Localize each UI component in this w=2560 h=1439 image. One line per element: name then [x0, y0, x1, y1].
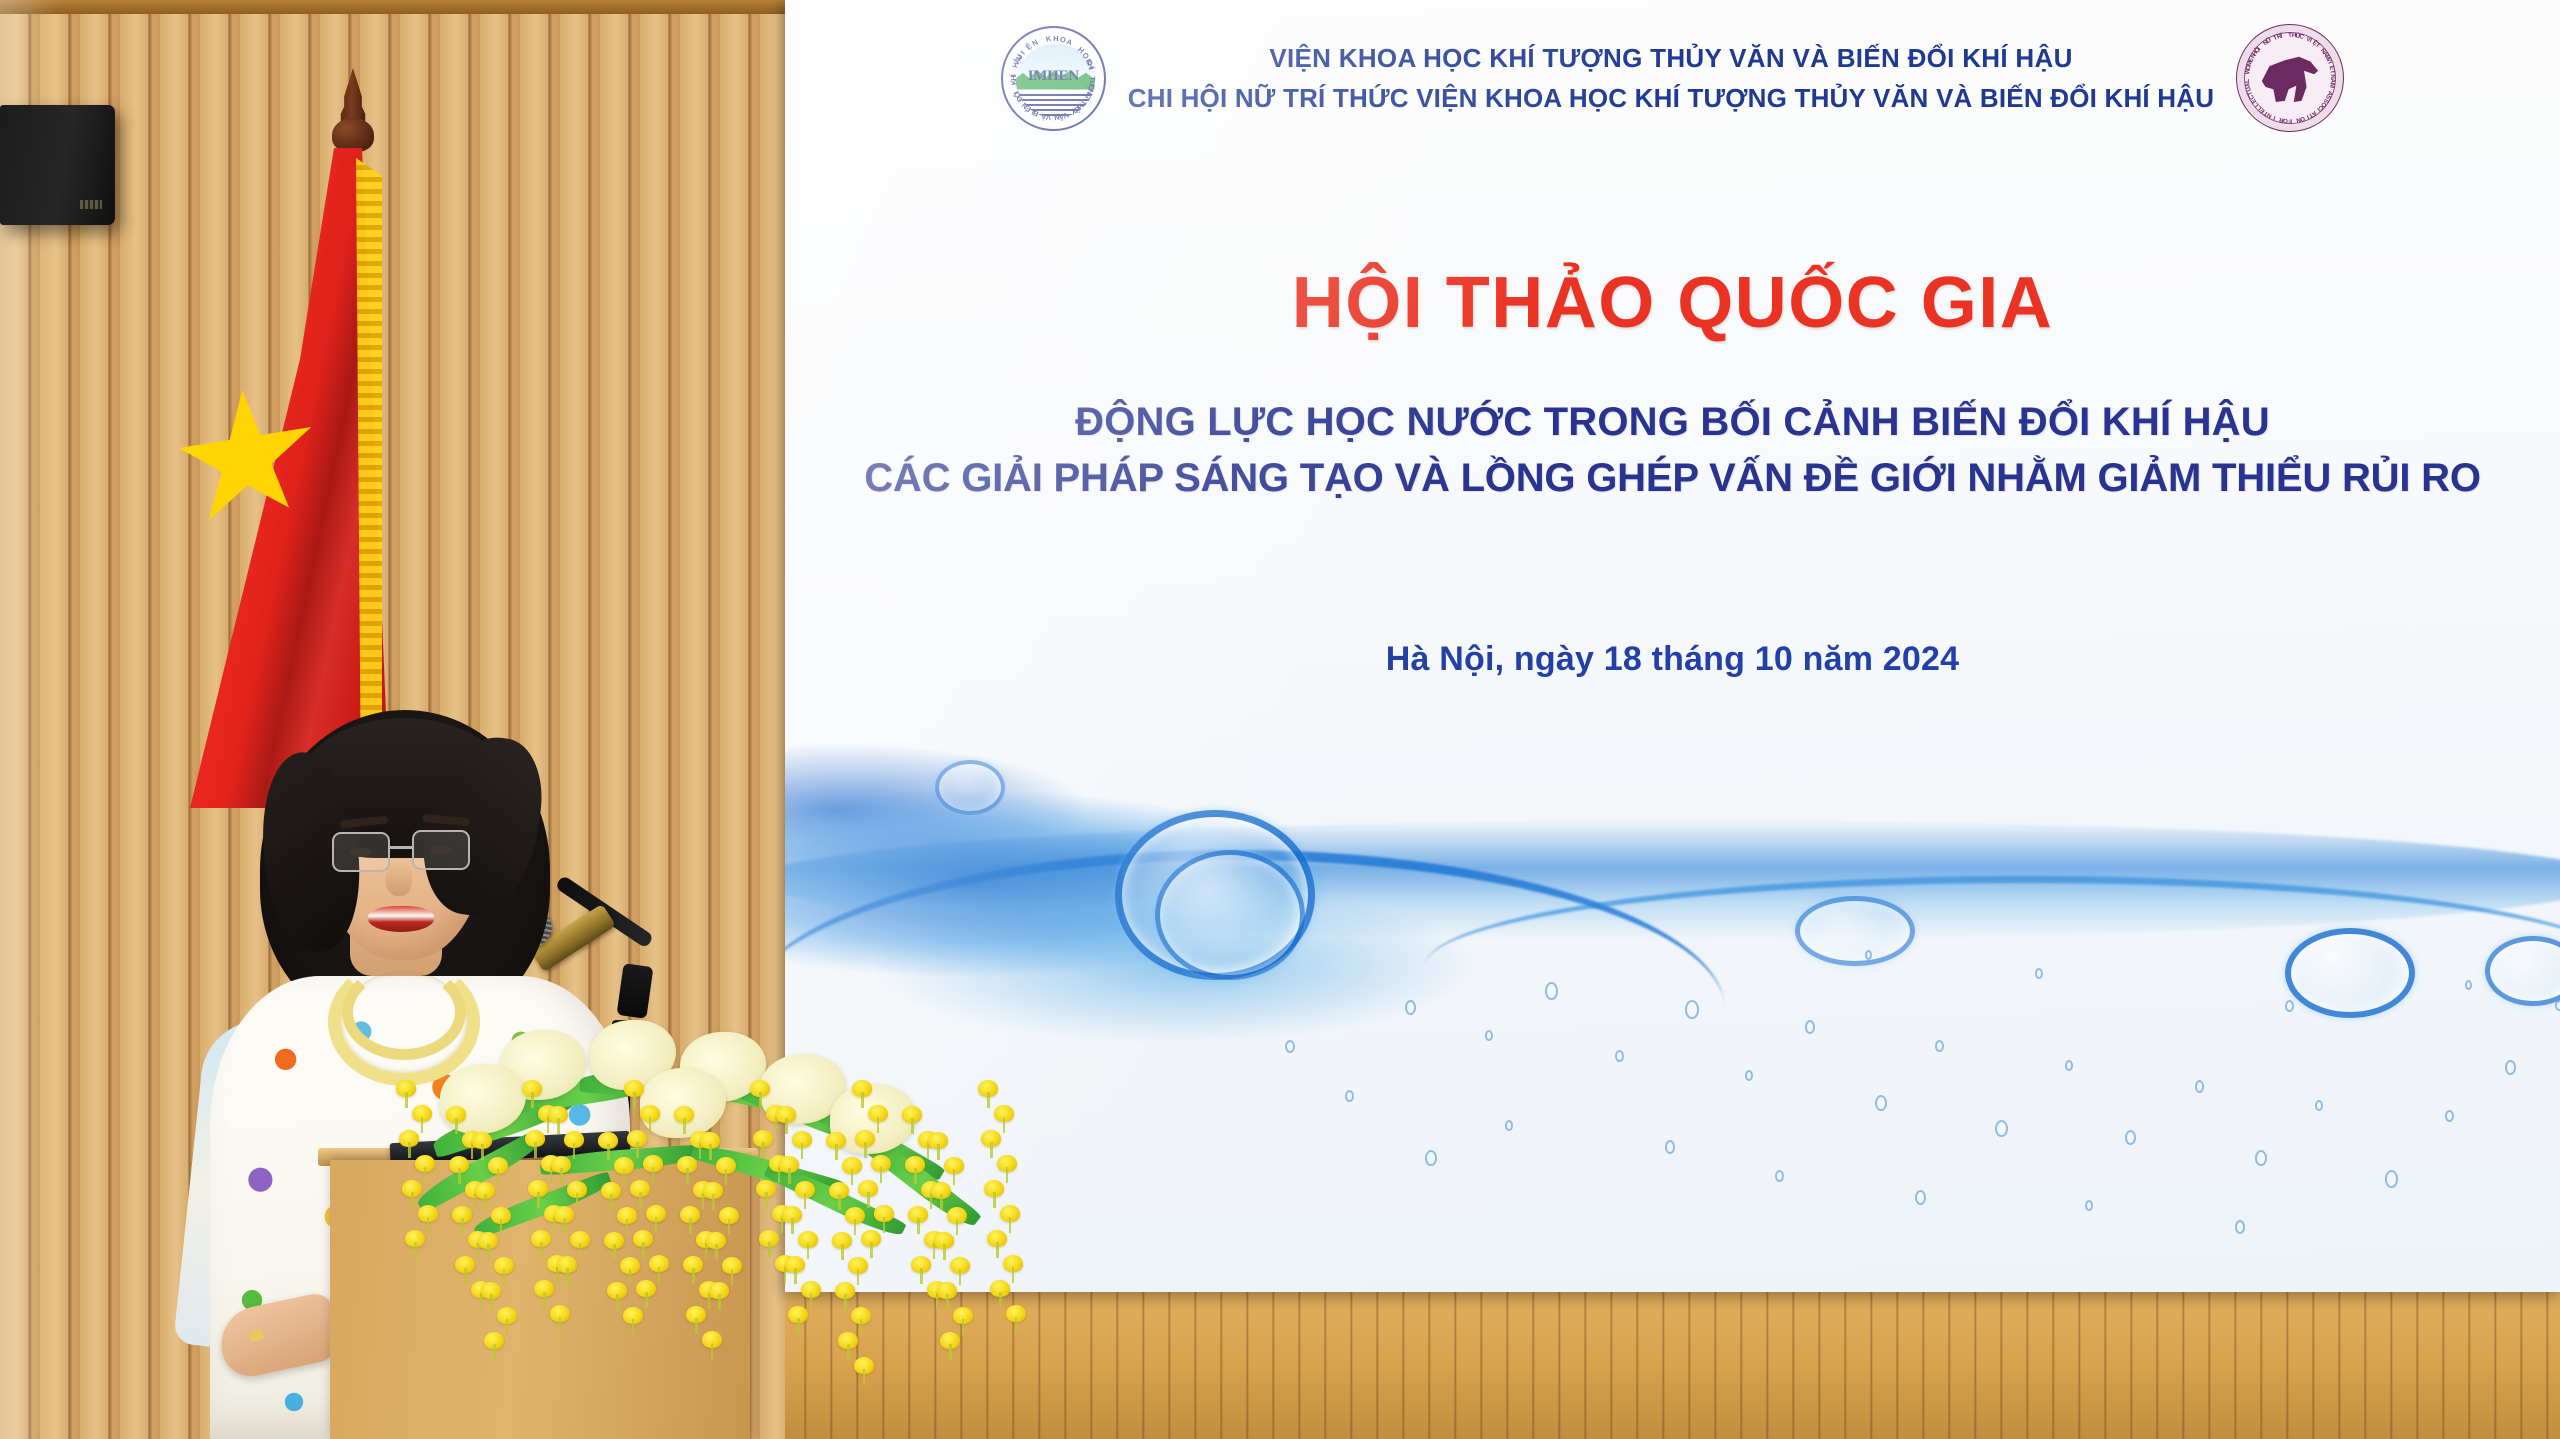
- orchid-stem: [573, 1143, 576, 1159]
- event-title: HỘI THẢO QUỐC GIA: [785, 262, 2560, 344]
- orchid-stem: [718, 1294, 721, 1310]
- orchid-stem: [632, 1319, 635, 1335]
- orchid-stem: [537, 1192, 540, 1208]
- orchid-stem: [405, 1092, 408, 1108]
- orchid-stem: [683, 1118, 686, 1134]
- water-droplet: [2035, 968, 2043, 979]
- mouth: [368, 906, 434, 932]
- water-ring-bubble: [1795, 896, 1915, 966]
- orchid-stem: [642, 1242, 645, 1258]
- orchid-stem: [788, 1168, 791, 1184]
- event-subtitle-line-2: CÁC GIẢI PHÁP SÁNG TẠO VÀ LỒNG GHÉP VẤN …: [785, 456, 2560, 501]
- orchid-stem: [503, 1269, 506, 1285]
- orchid-stem: [557, 1118, 560, 1134]
- water-droplet: [1775, 1170, 1784, 1182]
- orchid-stem: [987, 1092, 990, 1108]
- orchid-stem: [962, 1319, 965, 1335]
- orchid-stem: [715, 1244, 718, 1260]
- water-droplet: [1485, 1030, 1493, 1041]
- orchid-stem: [725, 1169, 728, 1185]
- orchid-stem: [804, 1193, 807, 1209]
- orchid-stem: [506, 1319, 509, 1335]
- orchid-stem: [490, 1294, 493, 1310]
- orchid-stem: [540, 1242, 543, 1258]
- orchid-stem: [639, 1192, 642, 1208]
- water-droplet: [1995, 1120, 2008, 1137]
- water-ring-bubble: [1155, 850, 1305, 980]
- orchid-stem: [937, 1144, 940, 1160]
- orchid-stem: [633, 1092, 636, 1108]
- orchid-stem: [652, 1167, 655, 1183]
- orchid-stem: [414, 1242, 417, 1258]
- orchid-stem: [911, 1118, 914, 1134]
- orchid-stem: [914, 1168, 917, 1184]
- water-droplet: [1915, 1190, 1926, 1205]
- orchid-stem: [797, 1318, 800, 1334]
- orchid-stem: [629, 1269, 632, 1285]
- organization-names: VIỆN KHOA HỌC KHÍ TƯỢNG THỦY VĂN VÀ BIẾN…: [1128, 41, 2214, 115]
- orchid-stem: [810, 1293, 813, 1309]
- orchid-stem: [712, 1194, 715, 1210]
- orchid-stem: [996, 1242, 999, 1258]
- water-droplet: [1345, 1090, 1354, 1102]
- orchid-stem: [610, 1194, 613, 1210]
- orchid-stem: [920, 1268, 923, 1284]
- orchid-stem: [864, 1142, 867, 1158]
- water-droplet: [2065, 1060, 2073, 1071]
- orchid-stem: [1009, 1217, 1012, 1233]
- flower-arrangement: [390, 1020, 1010, 1420]
- orchid-stem: [765, 1192, 768, 1208]
- orchid-stem: [943, 1244, 946, 1260]
- orchid-stem: [481, 1144, 484, 1160]
- orchid-stem: [411, 1192, 414, 1208]
- wooden-slat-wall-lower: [785, 1292, 2560, 1439]
- orchid-stem: [1012, 1267, 1015, 1283]
- water-droplet: [2505, 1060, 2516, 1075]
- orchid-stem: [762, 1142, 765, 1158]
- conference-photo-scene: IMHEN VIỆN KHOA HỌCKHÍ TƯỢNG THỦY VĂN VÀ…: [0, 0, 2560, 1439]
- orchid-stem: [835, 1144, 838, 1160]
- orchid-stem: [851, 1169, 854, 1185]
- glasses-lens-right: [412, 830, 470, 870]
- org-line-2: CHI HỘI NỮ TRÍ THỨC VIỆN KHOA HỌC KHÍ TƯ…: [1128, 81, 2214, 115]
- orchid-stem: [1003, 1117, 1006, 1133]
- orchid-stem: [801, 1143, 804, 1159]
- orchid-stem: [863, 1369, 866, 1385]
- orchid-stem: [689, 1218, 692, 1234]
- orchid-stem: [949, 1344, 952, 1360]
- glasses-bridge: [390, 846, 414, 849]
- orchid-stem: [543, 1292, 546, 1308]
- orchid-stem: [959, 1269, 962, 1285]
- event-date-location: Hà Nội, ngày 18 tháng 10 năm 2024: [785, 640, 2560, 679]
- water-droplet: [1665, 1140, 1675, 1154]
- orchid-stem: [427, 1217, 430, 1233]
- backdrop-header-row: IMHEN VIỆN KHOA HỌCKHÍ TƯỢNG THỦY VĂN VÀ…: [785, 18, 2560, 138]
- imhen-logo-icon: IMHEN VIỆN KHOA HỌCKHÍ TƯỢNG THỦY VĂN VÀ…: [1001, 26, 1106, 131]
- water-droplet: [1865, 950, 1872, 960]
- orchid-stem: [566, 1268, 569, 1284]
- orchid-stem: [563, 1218, 566, 1234]
- conference-backdrop-panel: IMHEN VIỆN KHOA HỌCKHÍ TƯỢNG THỦY VĂN VÀ…: [785, 0, 2560, 1292]
- wall-top-beam: [0, 0, 880, 14]
- water-droplet: [2385, 1170, 2398, 1188]
- orchid-stem: [636, 1142, 639, 1158]
- vafiw-ring-text: HỘI NỮ TRÍ THỨC VIỆT NAMVIETNAM ASSOCIAT…: [2237, 25, 2343, 131]
- orchid-stem: [794, 1268, 797, 1284]
- orchid-stem: [956, 1219, 959, 1235]
- orchid-stem: [623, 1169, 626, 1185]
- water-droplet: [2235, 1220, 2245, 1234]
- orchid-stem: [709, 1144, 712, 1160]
- water-ring-bubble: [935, 760, 1005, 815]
- orchid-stem: [841, 1244, 844, 1260]
- orchid-stem: [497, 1169, 500, 1185]
- orchid-stem: [692, 1268, 695, 1284]
- orchid-stem: [711, 1343, 714, 1359]
- orchid-stem: [993, 1192, 996, 1208]
- orchid-stem: [493, 1344, 496, 1360]
- orchid-stem: [940, 1194, 943, 1210]
- orchid-stem: [728, 1219, 731, 1235]
- water-droplet: [2315, 1100, 2323, 1111]
- orchid-stem: [645, 1292, 648, 1308]
- orchid-stem: [861, 1092, 864, 1108]
- orchid-stem: [860, 1319, 863, 1335]
- orchid-stem: [883, 1217, 886, 1233]
- wall-speaker-box: [0, 105, 115, 225]
- orchid-stem: [731, 1269, 734, 1285]
- water-ring-bubble: [2285, 928, 2415, 1018]
- orchid-stem: [686, 1168, 689, 1184]
- orchid-stem: [655, 1217, 658, 1233]
- orchid-stem: [877, 1117, 880, 1133]
- orchid-stem: [531, 1092, 534, 1108]
- water-droplet: [2285, 1000, 2294, 1012]
- water-droplet: [1425, 1150, 1437, 1166]
- glasses-lens-left: [332, 832, 390, 872]
- orchid-stem: [658, 1267, 661, 1283]
- water-droplet: [1615, 1050, 1624, 1062]
- orchid-stem: [844, 1294, 847, 1310]
- water-droplet: [2195, 1080, 2204, 1093]
- orchid-stem: [857, 1269, 860, 1285]
- orchid-stem: [579, 1243, 582, 1259]
- water-droplet: [2085, 1200, 2093, 1211]
- orchid-stem: [560, 1168, 563, 1184]
- orchid-stem: [768, 1242, 771, 1258]
- orchid-stem: [870, 1242, 873, 1258]
- orchid-stem: [695, 1318, 698, 1334]
- water-droplet: [2255, 1150, 2267, 1166]
- water-droplet: [1805, 1020, 1815, 1034]
- orchid-stem: [649, 1117, 652, 1133]
- orchid-stem: [880, 1167, 883, 1183]
- orchid-stem: [1015, 1317, 1018, 1333]
- water-droplet: [1685, 1000, 1699, 1019]
- water-droplet: [2465, 980, 2472, 990]
- event-subtitle-line-1: ĐỘNG LỰC HỌC NƯỚC TRONG BỐI CẢNH BIẾN ĐỔ…: [785, 400, 2560, 445]
- orchid-stem: [500, 1219, 503, 1235]
- orchid-stem: [953, 1169, 956, 1185]
- nose: [386, 862, 412, 896]
- water-droplet: [1405, 1000, 1416, 1015]
- water-droplet: [1505, 1120, 1513, 1131]
- orchid-stem: [917, 1218, 920, 1234]
- orchid-stem: [534, 1142, 537, 1158]
- orchid-stem: [455, 1118, 458, 1134]
- orchid-stem: [999, 1292, 1002, 1308]
- water-droplet: [1545, 982, 1558, 1000]
- orchid-stem: [607, 1144, 610, 1160]
- org-line-1: VIỆN KHOA HỌC KHÍ TƯỢNG THỦY VĂN VÀ BIẾN…: [1128, 41, 2214, 75]
- orchid-stem: [461, 1218, 464, 1234]
- water-droplet: [2125, 1130, 2136, 1145]
- water-droplet: [1935, 1040, 1944, 1052]
- imhen-ring-text: VIỆN KHOA HỌCKHÍ TƯỢNG THỦY VĂN VÀ BIẾN …: [1003, 28, 1104, 129]
- orchid-stem: [854, 1219, 857, 1235]
- orchid-stem: [791, 1218, 794, 1234]
- flagpole-ball: [332, 118, 374, 152]
- orchid-stem: [613, 1244, 616, 1260]
- orchid-stem: [867, 1192, 870, 1208]
- orchid-stem: [807, 1243, 810, 1259]
- orchid-stem: [616, 1294, 619, 1310]
- orchid-stem: [464, 1268, 467, 1284]
- water-droplet: [1285, 1040, 1295, 1053]
- orchid-stem: [458, 1168, 461, 1184]
- orchid-stem: [626, 1219, 629, 1235]
- orchid-stem: [990, 1142, 993, 1158]
- orchid-stem: [421, 1117, 424, 1133]
- water-droplet: [1745, 1070, 1753, 1081]
- orchid-stem: [838, 1194, 841, 1210]
- orchid-stem: [785, 1118, 788, 1134]
- orchid-stem: [424, 1167, 427, 1183]
- orchid-stem: [946, 1294, 949, 1310]
- water-droplet: [2445, 1110, 2454, 1122]
- water-droplet: [2555, 1000, 2560, 1011]
- water-splash-graphic: [785, 700, 2560, 1292]
- water-droplet: [1875, 1095, 1887, 1111]
- orchid-stem: [759, 1092, 762, 1108]
- vafiw-logo-icon: HỘI NỮ TRÍ THỨC VIỆT NAMVIETNAM ASSOCIAT…: [2236, 24, 2344, 132]
- orchid-stem: [487, 1244, 490, 1260]
- orchid-stem: [408, 1142, 411, 1158]
- orchid-stem: [1006, 1167, 1009, 1183]
- orchid-stem: [576, 1193, 579, 1209]
- orchid-stem: [484, 1194, 487, 1210]
- orchid-stem: [847, 1344, 850, 1360]
- orchid-stem: [559, 1317, 562, 1333]
